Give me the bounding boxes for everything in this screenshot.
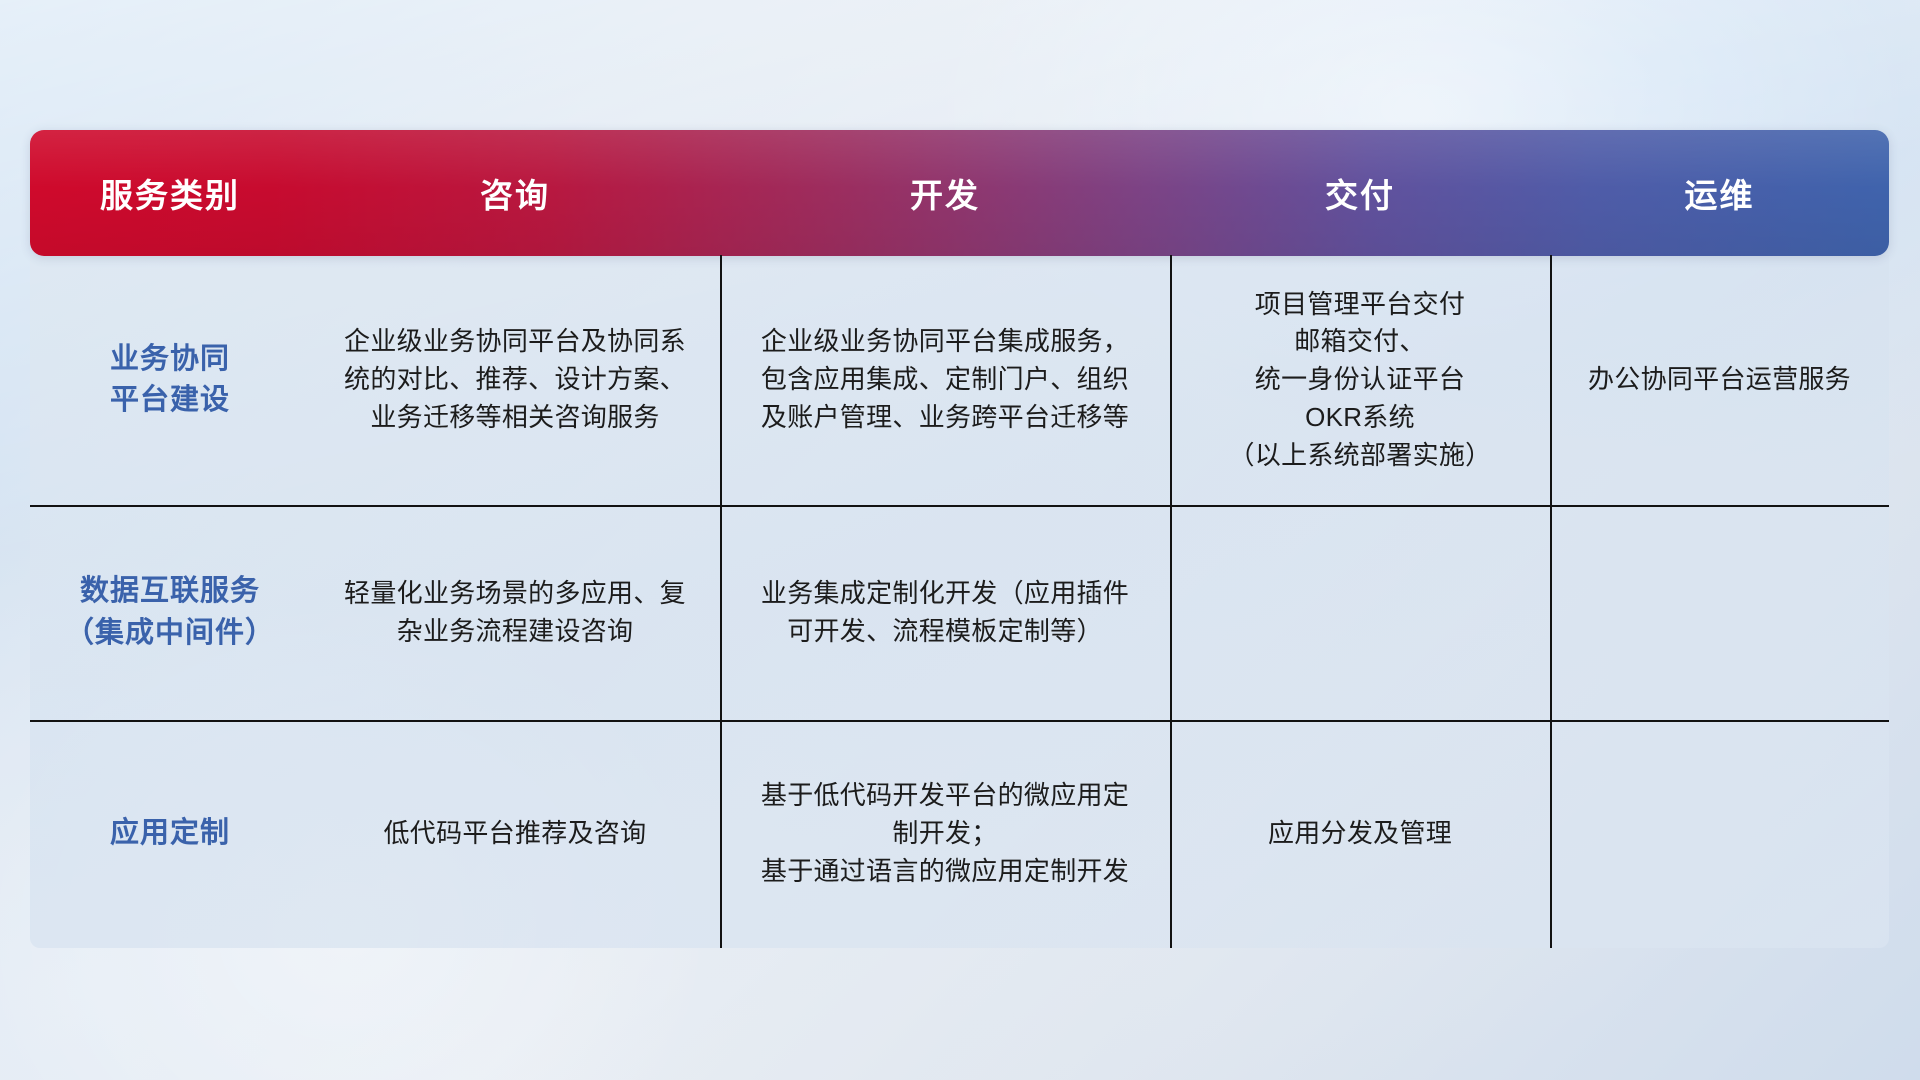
cell-operations — [1550, 720, 1889, 948]
cell-consulting: 轻量化业务场景的多应用、复 杂业务流程建设咨询 — [310, 505, 720, 720]
cell-text: 企业级业务协同平台集成服务， 包含应用集成、定制门户、组织 及账户管理、业务跨平… — [761, 323, 1129, 436]
header-cell-consulting: 咨询 — [310, 169, 720, 217]
header-cell-delivery: 交付 — [1170, 169, 1550, 217]
cell-operations: 办公协同平台运营服务 — [1550, 255, 1889, 505]
cell-consulting: 企业级业务协同平台及协同系 统的对比、推荐、设计方案、 业务迁移等相关咨询服务 — [310, 255, 720, 505]
cell-development: 企业级业务协同平台集成服务， 包含应用集成、定制门户、组织 及账户管理、业务跨平… — [720, 255, 1170, 505]
cell-delivery: 项目管理平台交付 邮箱交付、 统一身份认证平台 OKR系统 （以上系统部署实施） — [1170, 255, 1550, 505]
category-label: 数据互联服务 （集成中间件） — [65, 571, 275, 653]
cell-text: 企业级业务协同平台及协同系 统的对比、推荐、设计方案、 业务迁移等相关咨询服务 — [344, 323, 686, 436]
header-cell-development: 开发 — [720, 169, 1170, 217]
table-row: 应用定制 低代码平台推荐及咨询 基于低代码开发平台的微应用定 制开发； 基于通过… — [30, 720, 1889, 948]
cell-text: 基于低代码开发平台的微应用定 制开发； 基于通过语言的微应用定制开发 — [761, 777, 1129, 890]
cell-text: 项目管理平台交付 邮箱交付、 统一身份认证平台 OKR系统 （以上系统部署实施） — [1228, 286, 1491, 474]
cell-consulting: 低代码平台推荐及咨询 — [310, 720, 720, 948]
cell-text: 应用分发及管理 — [1268, 815, 1452, 853]
cell-text: 轻量化业务场景的多应用、复 杂业务流程建设咨询 — [344, 575, 686, 650]
cell-delivery — [1170, 505, 1550, 720]
cell-text: 低代码平台推荐及咨询 — [383, 815, 646, 853]
header-cell-service-category: 服务类别 — [30, 169, 310, 217]
row-category-cell: 业务协同 平台建设 — [30, 255, 310, 505]
cell-delivery: 应用分发及管理 — [1170, 720, 1550, 948]
cell-development: 基于低代码开发平台的微应用定 制开发； 基于通过语言的微应用定制开发 — [720, 720, 1170, 948]
service-matrix-table: 服务类别 咨询 开发 交付 运维 业务协同 平台建设 企业级业务协同平台及协同系… — [30, 130, 1889, 948]
header-cell-operations: 运维 — [1550, 169, 1889, 217]
table-row: 数据互联服务 （集成中间件） 轻量化业务场景的多应用、复 杂业务流程建设咨询 业… — [30, 505, 1889, 720]
table-body: 业务协同 平台建设 企业级业务协同平台及协同系 统的对比、推荐、设计方案、 业务… — [30, 255, 1889, 948]
column-divider — [1550, 255, 1552, 948]
row-category-cell: 应用定制 — [30, 720, 310, 948]
row-divider — [30, 505, 1889, 507]
column-divider — [720, 255, 722, 948]
column-divider — [1170, 255, 1172, 948]
cell-operations — [1550, 505, 1889, 720]
table-row: 业务协同 平台建设 企业级业务协同平台及协同系 统的对比、推荐、设计方案、 业务… — [30, 255, 1889, 505]
cell-text: 业务集成定制化开发（应用插件 可开发、流程模板定制等） — [761, 575, 1129, 650]
cell-development: 业务集成定制化开发（应用插件 可开发、流程模板定制等） — [720, 505, 1170, 720]
category-label: 业务协同 平台建设 — [110, 339, 230, 421]
table-header-row: 服务类别 咨询 开发 交付 运维 — [30, 130, 1889, 256]
category-label: 应用定制 — [110, 813, 230, 854]
row-divider — [30, 720, 1889, 722]
row-category-cell: 数据互联服务 （集成中间件） — [30, 505, 310, 720]
cell-text: 办公协同平台运营服务 — [1588, 361, 1851, 399]
